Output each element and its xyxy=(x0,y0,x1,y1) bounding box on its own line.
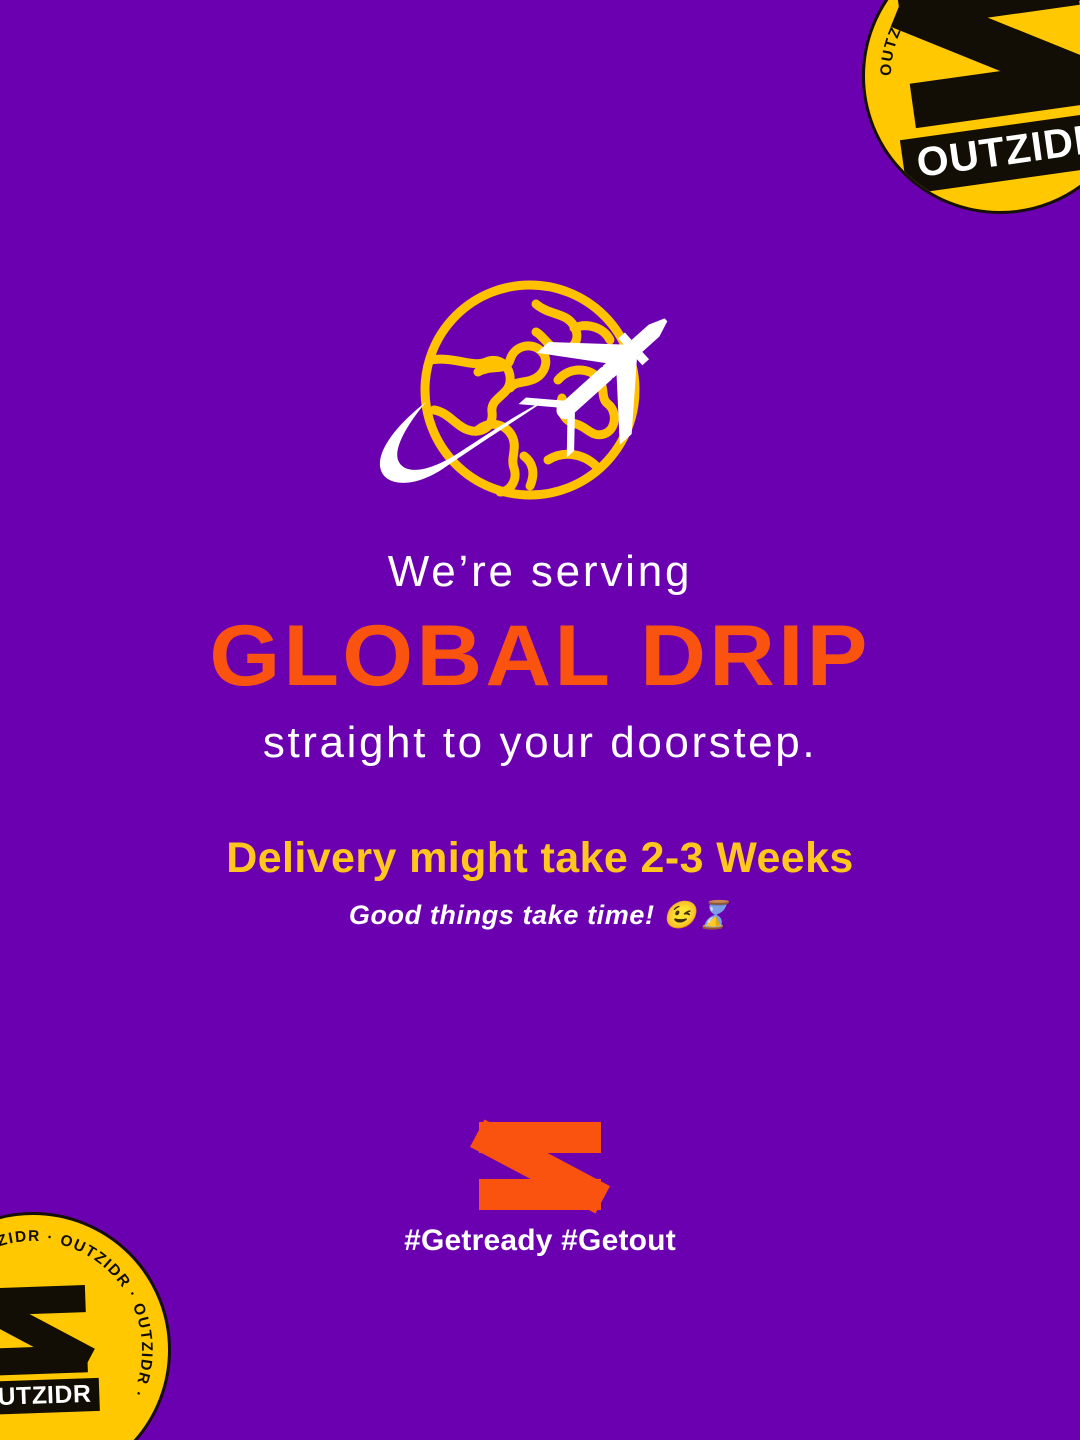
delivery-notice: Delivery might take 2-3 Weeks xyxy=(0,835,1080,882)
sticker-badge-top-right: OUTZIDR · OUTZIDR · OUTZIDR · OUTZIDR · … xyxy=(862,0,1080,214)
tagline-line-3: straight to your doorstep. xyxy=(0,719,1080,767)
badge-wordmark: OUTZIDR xyxy=(0,1378,100,1416)
z-logo-bottom-bar xyxy=(0,1345,88,1376)
headline: GLOBAL DRIP xyxy=(0,608,1080,704)
z-logo-icon xyxy=(0,1285,88,1376)
globe-icon xyxy=(425,285,635,495)
copy-block: We’re serving GLOBAL DRIP straight to yo… xyxy=(0,548,1080,932)
tagline-line-1: We’re serving xyxy=(0,548,1080,596)
z-logo-icon xyxy=(479,1122,601,1210)
badge-wordmark-part1: OUT xyxy=(0,1383,32,1412)
promo-poster: We’re serving GLOBAL DRIP straight to yo… xyxy=(0,0,1080,1440)
sticker-badge-bottom-left: OUTZIDR · OUTZIDR · OUTZIDR · OUTZIDR · … xyxy=(0,1212,171,1440)
hashtags: #Getready #Getout xyxy=(404,1224,676,1258)
globe-airplane-svg xyxy=(360,272,720,512)
badge-wordmark-part2: IDR xyxy=(47,1380,92,1409)
z-logo-icon xyxy=(897,0,1080,128)
badge-wordmark-z: Z xyxy=(31,1382,47,1410)
badge-core-bottom-left: OUTZIDR xyxy=(0,1285,100,1416)
badge-core-top-right: OUTZIDR xyxy=(878,0,1080,194)
z-logo-bottom-bar xyxy=(479,1179,601,1210)
reassurance-text: Good things take time! 😉⌛ xyxy=(0,899,1080,931)
globe-airplane-artwork xyxy=(0,272,1080,512)
